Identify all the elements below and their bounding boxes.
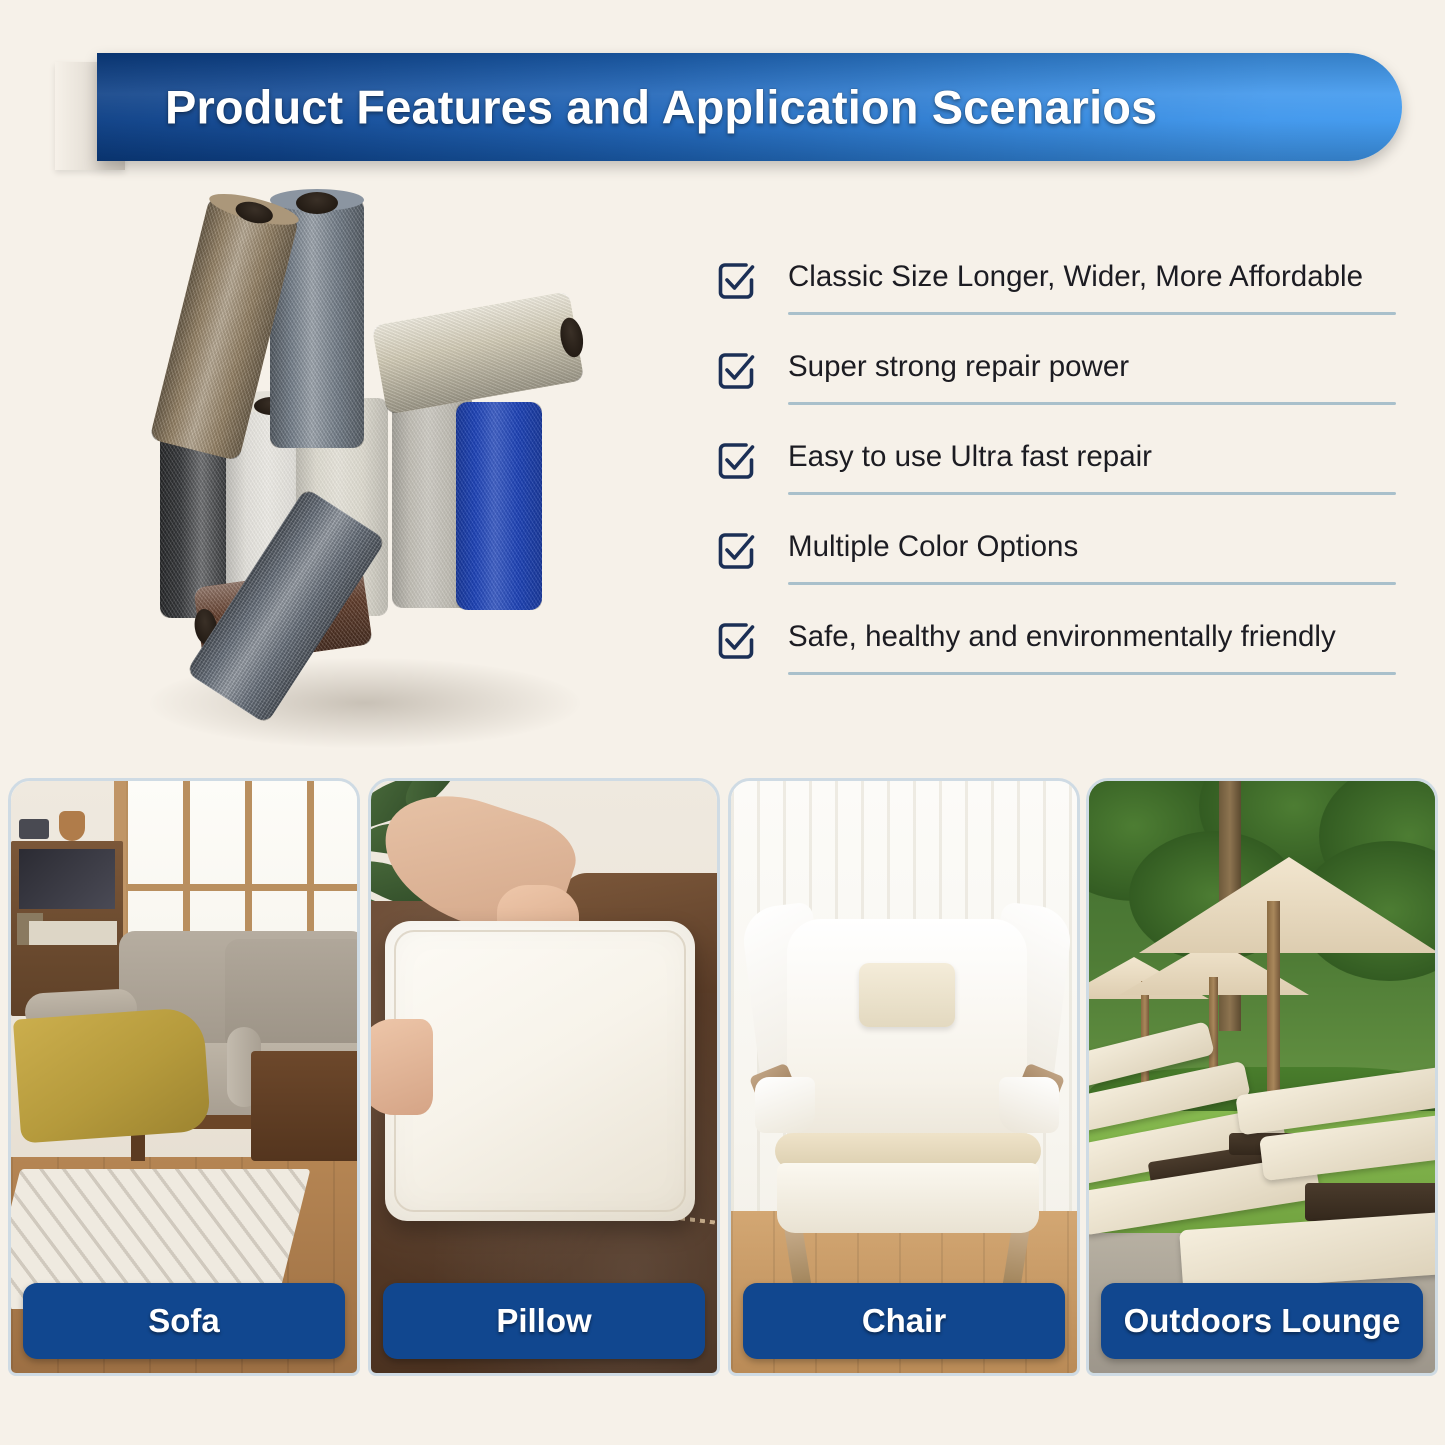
scenario-card-row: Sofa Pillow [0,778,1445,1378]
roll-cream-horizontal [372,291,585,414]
scenario-label-text: Pillow [496,1302,591,1340]
roll-core [296,192,338,214]
scenario-label-chair: Chair [743,1283,1065,1359]
feature-label: Multiple Color Options [788,526,1388,568]
feature-label: Super strong repair power [788,346,1388,388]
scenario-card-sofa[interactable]: Sofa [8,778,360,1376]
scenario-label-text: Outdoors Lounge [1124,1302,1401,1340]
feature-list: Classic Size Longer, Wider, More Afforda… [716,250,1396,700]
header: Product Features and Application Scenari… [0,0,1445,175]
product-image-fabric-repair-tape-rolls [120,178,640,748]
scenario-label-pillow: Pillow [383,1283,705,1359]
feature-divider [788,582,1396,585]
feature-item: Classic Size Longer, Wider, More Afforda… [716,250,1396,340]
page-title: Product Features and Application Scenari… [165,80,1157,135]
scenario-card-outdoors-lounge[interactable]: Outdoors Lounge [1086,778,1438,1376]
checkbox-checked-icon [716,620,758,662]
scenario-label-sofa: Sofa [23,1283,345,1359]
checkbox-checked-icon [716,440,758,482]
feature-label: Classic Size Longer, Wider, More Afforda… [788,256,1388,298]
scenario-label-outdoors-lounge: Outdoors Lounge [1101,1283,1423,1359]
scenario-card-chair[interactable]: Chair [728,778,1080,1376]
feature-divider [788,312,1396,315]
feature-divider [788,672,1396,675]
feature-divider [788,492,1396,495]
feature-item: Easy to use Ultra fast repair [716,430,1396,520]
feature-item: Multiple Color Options [716,520,1396,610]
feature-item: Safe, healthy and environmentally friend… [716,610,1396,700]
checkbox-checked-icon [716,260,758,302]
header-banner: Product Features and Application Scenari… [97,53,1402,161]
scenario-label-text: Chair [862,1302,946,1340]
feature-label: Safe, healthy and environmentally friend… [788,616,1388,658]
feature-label: Easy to use Ultra fast repair [788,436,1388,478]
feature-item: Super strong repair power [716,340,1396,430]
scenario-card-pillow[interactable]: Pillow [368,778,720,1376]
checkbox-checked-icon [716,530,758,572]
roll-blue [456,402,542,610]
scenario-label-text: Sofa [148,1302,220,1340]
feature-divider [788,402,1396,405]
checkbox-checked-icon [716,350,758,392]
